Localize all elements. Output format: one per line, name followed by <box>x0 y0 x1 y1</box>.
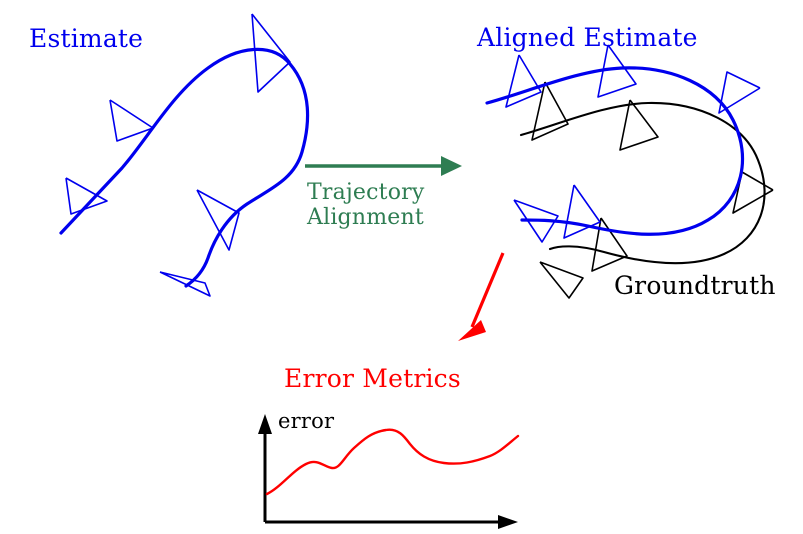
camera-marker <box>532 82 568 140</box>
red-arrow-shaft <box>472 253 503 327</box>
y-axis-arrow-head <box>258 414 272 434</box>
camera-marker <box>598 45 636 97</box>
estimate-trajectory-group <box>61 14 308 296</box>
groundtruth-label: Groundtruth <box>614 271 776 300</box>
x-axis-arrow-head <box>498 515 518 529</box>
aligned-estimate-trajectory-group <box>487 45 760 242</box>
camera-marker <box>197 190 239 250</box>
camera-marker <box>540 262 583 298</box>
trajectory-alignment-arrow <box>305 156 462 176</box>
error-axis-label: error <box>278 409 334 433</box>
camera-marker <box>620 100 658 150</box>
green-arrow-head <box>441 156 462 176</box>
camera-marker <box>506 55 541 107</box>
estimate-trajectory-path <box>61 49 308 286</box>
error-curve <box>267 430 518 494</box>
error-metrics-label: Error Metrics <box>284 364 461 393</box>
trajectory-alignment-caption-line-1: Trajectory <box>307 180 425 205</box>
error-metrics-arrow <box>458 253 503 341</box>
camera-marker <box>66 178 107 214</box>
aligned-estimate-trajectory-path <box>487 68 743 234</box>
camera-marker <box>160 272 210 296</box>
camera-marker <box>564 185 600 238</box>
trajectory-alignment-caption-line-2: Alignment <box>307 205 424 230</box>
estimate-label: Estimate <box>29 24 143 53</box>
groundtruth-trajectory-path <box>521 103 765 263</box>
camera-marker <box>252 14 290 92</box>
camera-marker <box>592 218 627 271</box>
diagram-canvas <box>0 0 803 534</box>
aligned-estimate-label: Aligned Estimate <box>477 23 698 52</box>
